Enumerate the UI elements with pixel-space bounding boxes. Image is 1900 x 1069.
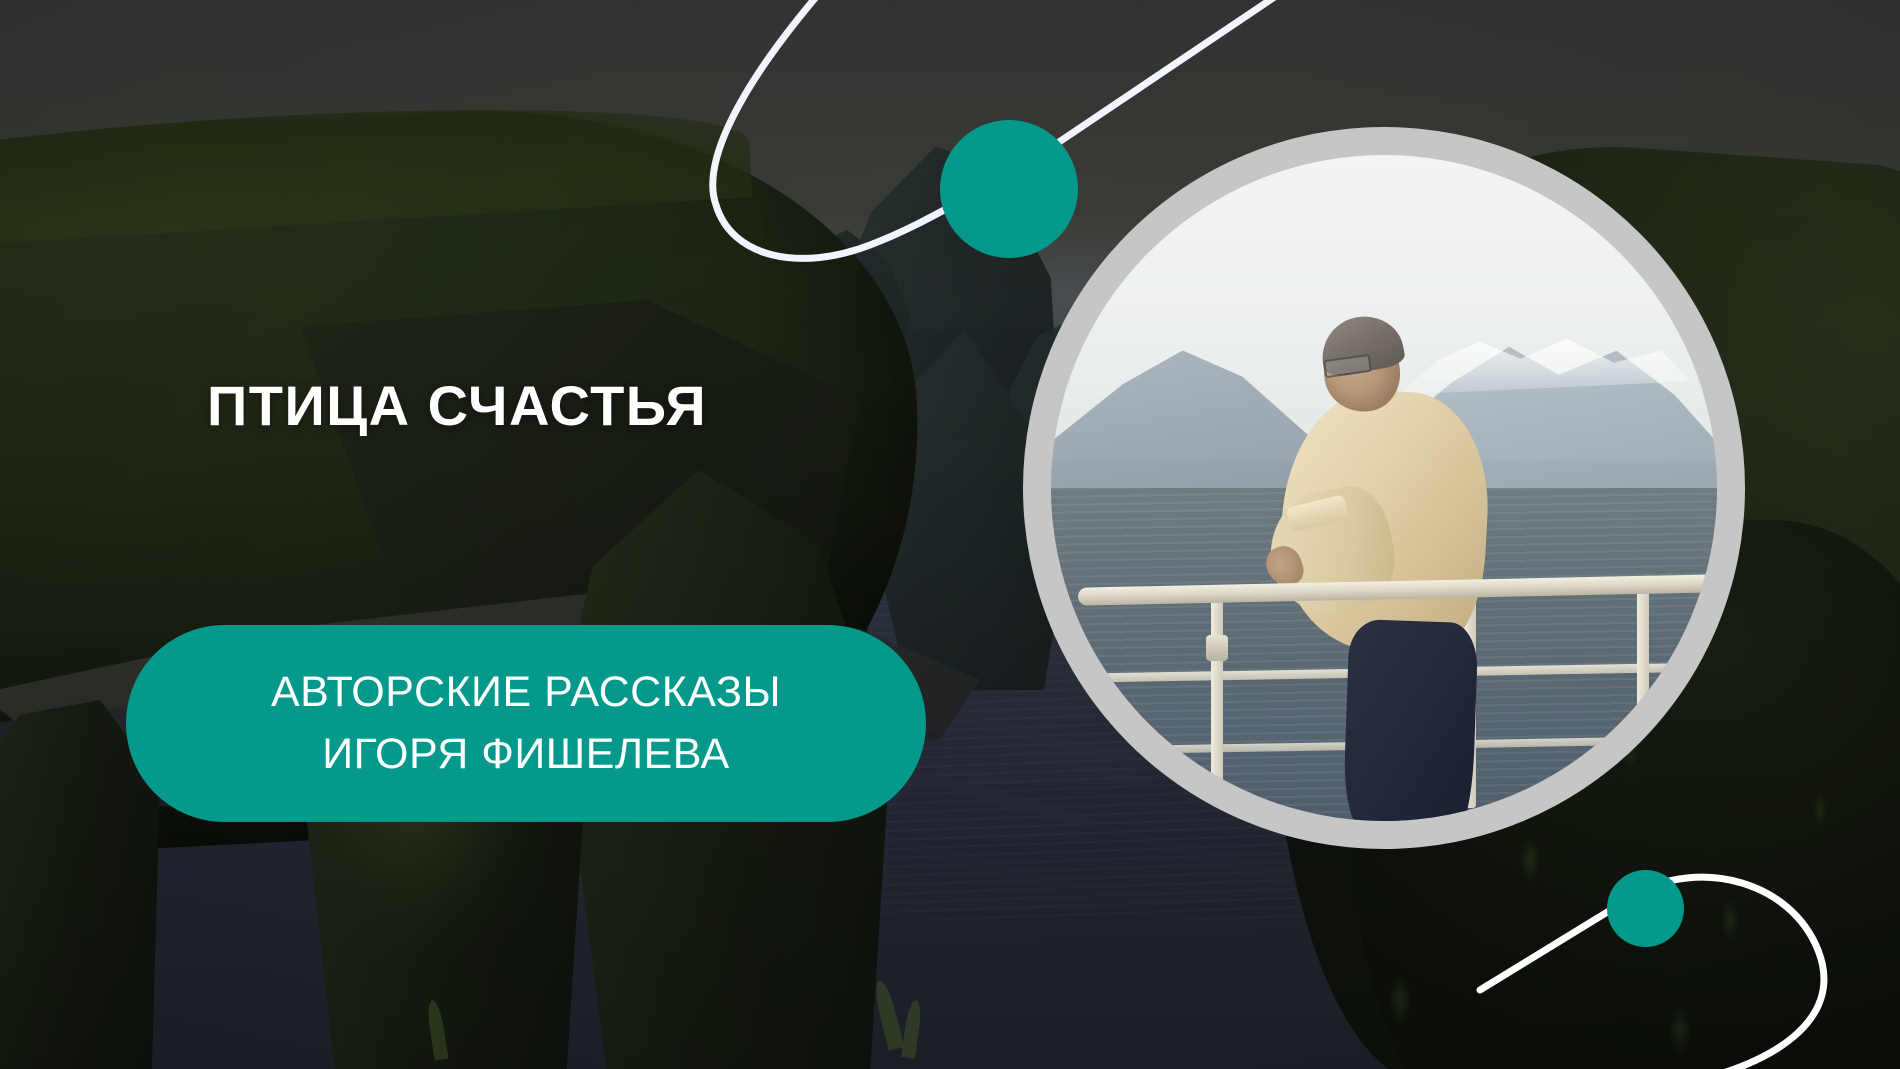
ship-railing-post <box>1211 588 1223 808</box>
ship-railing-clamp <box>1206 635 1228 661</box>
person-trousers <box>1343 619 1479 821</box>
page-title: ПТИЦА СЧАСТЬЯ <box>207 378 707 434</box>
author-portrait-frame <box>1023 127 1745 849</box>
ship-railing-post <box>1637 581 1649 807</box>
slide-canvas: ПТИЦА СЧАСТЬЯ АВТОРСКИЕ РАССКАЗЫ ИГОРЯ Ф… <box>0 0 1900 1069</box>
teal-circle-accent-small <box>1607 870 1684 947</box>
subtitle-text: АВТОРСКИЕ РАССКАЗЫ ИГОРЯ ФИШЕЛЕВА <box>271 662 781 784</box>
author-portrait <box>1051 155 1717 821</box>
subtitle-badge: АВТОРСКИЕ РАССКАЗЫ ИГОРЯ ФИШЕЛЕВА <box>126 625 926 822</box>
portrait-person <box>1264 322 1557 822</box>
